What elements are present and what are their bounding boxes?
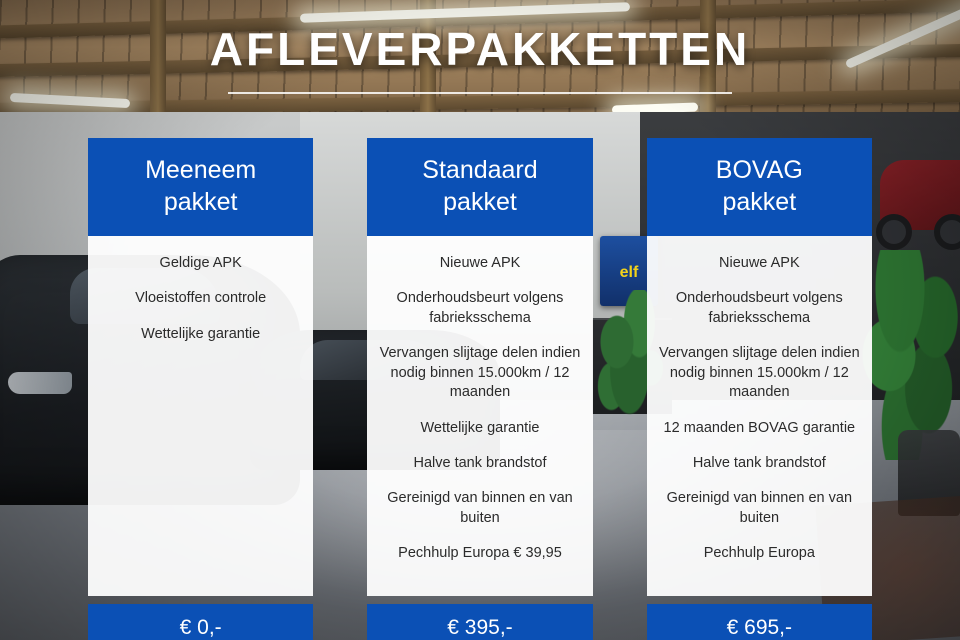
title-divider [228,92,732,94]
poster-content: AFLEVERPAKKETTEN Meeneem pakket Geldige … [0,0,960,640]
package-card-bovag[interactable]: BOVAG pakket Nieuwe APK Onderhoudsbeurt … [647,138,872,640]
package-card-header: Standaard pakket [367,138,592,236]
package-feature: Onderhoudsbeurt volgens fabrieksschema [379,289,580,328]
package-price: € 395,- [367,604,592,640]
package-name-line2: pakket [655,186,864,218]
poster-stage: elf AFLEVERPAKKETTEN Meeneem pakket Geld… [0,0,960,640]
package-name-line2: pakket [375,186,584,218]
package-name-line1: Meeneem [96,154,305,186]
package-feature: Wettelijke garantie [100,325,301,344]
package-price: € 695,- [647,604,872,640]
package-feature: Geldige APK [100,254,301,273]
package-name-line2: pakket [96,186,305,218]
package-feature: Gereinigd van binnen en van buiten [379,489,580,528]
page-title: AFLEVERPAKKETTEN [0,22,960,76]
package-feature: Vervangen slijtage delen indien nodig bi… [659,344,860,402]
package-feature-list: Nieuwe APK Onderhoudsbeurt volgens fabri… [367,236,592,596]
package-feature: Vloeistoffen controle [100,289,301,308]
package-feature: Onderhoudsbeurt volgens fabrieksschema [659,289,860,328]
package-card-standaard[interactable]: Standaard pakket Nieuwe APK Onderhoudsbe… [367,138,592,640]
package-feature: Gereinigd van binnen en van buiten [659,489,860,528]
package-card-header: BOVAG pakket [647,138,872,236]
package-feature-list: Nieuwe APK Onderhoudsbeurt volgens fabri… [647,236,872,596]
package-card-header: Meeneem pakket [88,138,313,236]
package-price: € 0,- [88,604,313,640]
package-feature: Pechhulp Europa [659,544,860,563]
package-name-line1: Standaard [375,154,584,186]
package-feature: Wettelijke garantie [379,419,580,438]
package-feature: Halve tank brandstof [379,454,580,473]
package-feature: Halve tank brandstof [659,454,860,473]
package-feature: 12 maanden BOVAG garantie [659,419,860,438]
package-feature: Nieuwe APK [659,254,860,273]
package-name-line1: BOVAG [655,154,864,186]
package-card-meeneem[interactable]: Meeneem pakket Geldige APK Vloeistoffen … [88,138,313,640]
package-feature: Vervangen slijtage delen indien nodig bi… [379,344,580,402]
package-feature-list: Geldige APK Vloeistoffen controle Wettel… [88,236,313,596]
package-feature: Pechhulp Europa € 39,95 [379,544,580,563]
package-feature: Nieuwe APK [379,254,580,273]
package-card-list: Meeneem pakket Geldige APK Vloeistoffen … [88,138,872,640]
